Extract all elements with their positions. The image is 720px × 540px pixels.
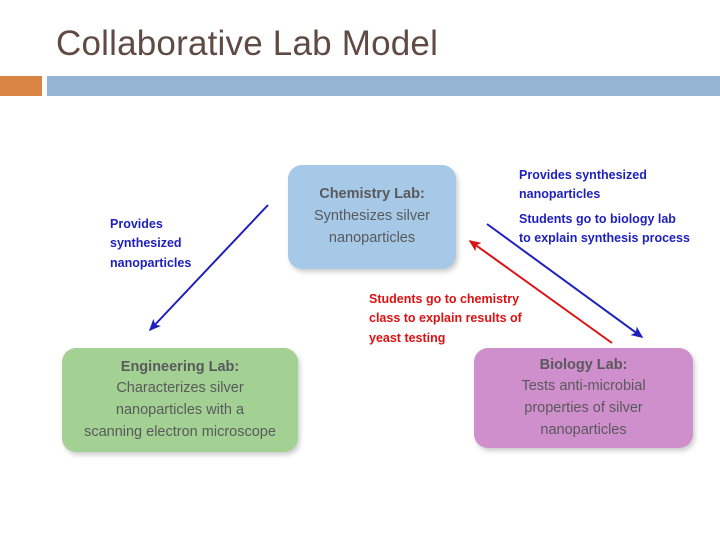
lab-box-chemistry-line-2: nanoparticles [329, 228, 415, 250]
lab-box-chemistry-title: Chemistry Lab: [319, 184, 425, 206]
lab-box-biology[interactable]: Biology Lab: Tests anti-microbial proper… [474, 348, 693, 448]
lab-box-engineering-line-2: nanoparticles with a [116, 400, 244, 422]
annotation-right-students: Students go to biology lab to explain sy… [519, 210, 719, 249]
title-accent-block [0, 76, 42, 96]
annotation-center-students: Students go to chemistry class to explai… [369, 290, 544, 348]
lab-box-biology-line-1: Tests anti-microbial [521, 376, 645, 398]
lab-box-biology-title: Biology Lab: [540, 355, 628, 377]
lab-box-biology-line-2: properties of silver [524, 398, 642, 420]
annotation-right-provides: Provides synthesized nanoparticles [519, 166, 714, 205]
lab-box-biology-line-3: nanoparticles [540, 420, 626, 442]
lab-box-chemistry-line-1: Synthesizes silver [314, 206, 430, 228]
lab-box-engineering-title: Engineering Lab: [121, 357, 239, 379]
title-underline-bar [47, 76, 720, 96]
slide-canvas: Collaborative Lab Model Chemistry Lab: S… [0, 0, 720, 540]
lab-box-chemistry[interactable]: Chemistry Lab: Synthesizes silver nanopa… [288, 165, 456, 269]
page-title: Collaborative Lab Model [56, 24, 438, 64]
annotation-left-provides: Provides synthesized nanoparticles [110, 215, 240, 273]
lab-box-engineering[interactable]: Engineering Lab: Characterizes silver na… [62, 348, 298, 452]
lab-box-engineering-line-3: scanning electron microscope [84, 422, 276, 444]
lab-box-engineering-line-1: Characterizes silver [116, 378, 243, 400]
